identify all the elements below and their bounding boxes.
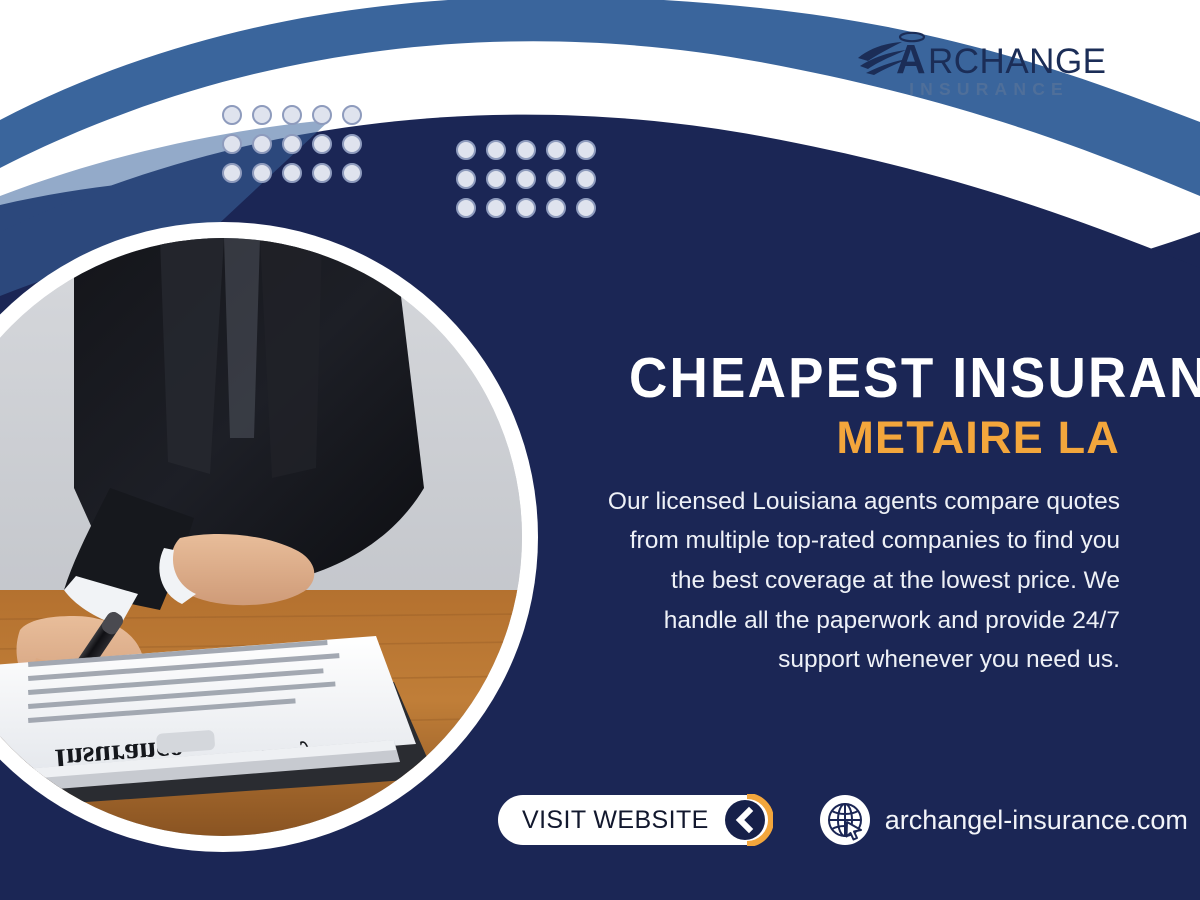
dot: [312, 163, 332, 183]
visit-website-label: VISIT WEBSITE: [522, 806, 709, 835]
dot: [456, 169, 476, 189]
dot: [222, 134, 242, 154]
website-url-text: archangel-insurance.com: [885, 805, 1188, 836]
dot: [486, 169, 506, 189]
winged-halo-a-icon: A RCHANGEL: [856, 28, 1108, 80]
globe-cursor-icon: [819, 794, 871, 846]
visit-website-button[interactable]: VISIT WEBSITE: [498, 795, 771, 845]
svg-text:RCHANGEL: RCHANGEL: [928, 42, 1108, 80]
headline-secondary: METAIRE LA: [592, 415, 1120, 460]
dot: [486, 140, 506, 160]
dot: [222, 163, 242, 183]
dot: [342, 163, 362, 183]
footer-cta-row: VISIT WEBSITE archangel-in: [498, 790, 1188, 850]
brand-subtitle: INSURANCE: [856, 81, 1116, 99]
dot: [222, 105, 242, 125]
svg-text:A: A: [896, 36, 925, 80]
body-paragraph: Our licensed Louisiana agents compare qu…: [592, 482, 1120, 680]
dot: [516, 140, 536, 160]
decorative-dot-grid-1: [222, 105, 362, 183]
hero-photo: Insurance Policy: [0, 238, 522, 836]
dot: [252, 134, 272, 154]
dot: [546, 169, 566, 189]
website-url-block[interactable]: archangel-insurance.com: [819, 794, 1188, 846]
dot: [456, 140, 476, 160]
dot: [576, 169, 596, 189]
chevron-left-icon[interactable]: [721, 794, 773, 846]
dot: [486, 198, 506, 218]
dot: [252, 105, 272, 125]
dot: [516, 198, 536, 218]
brand-logo[interactable]: A RCHANGEL INSURANCE: [856, 28, 1116, 108]
dot: [252, 163, 272, 183]
dot: [312, 105, 332, 125]
dot: [312, 134, 332, 154]
dot: [342, 134, 362, 154]
hero-photo-ring: Insurance Policy: [0, 222, 538, 852]
dot: [546, 198, 566, 218]
dot: [282, 163, 302, 183]
dot: [576, 198, 596, 218]
headline-primary: CHEAPEST INSURANCE: [629, 352, 1120, 406]
dot: [516, 169, 536, 189]
copy-block: CHEAPEST INSURANCE METAIRE LA Our licens…: [592, 352, 1120, 680]
dot: [282, 105, 302, 125]
dot: [342, 105, 362, 125]
promo-poster: A RCHANGEL INSURANCE: [0, 0, 1200, 900]
decorative-dot-grid-2: [456, 140, 596, 218]
dot: [546, 140, 566, 160]
hero-photo-illustration: Insurance Policy: [0, 238, 522, 836]
dot: [282, 134, 302, 154]
dot: [456, 198, 476, 218]
dot: [576, 140, 596, 160]
